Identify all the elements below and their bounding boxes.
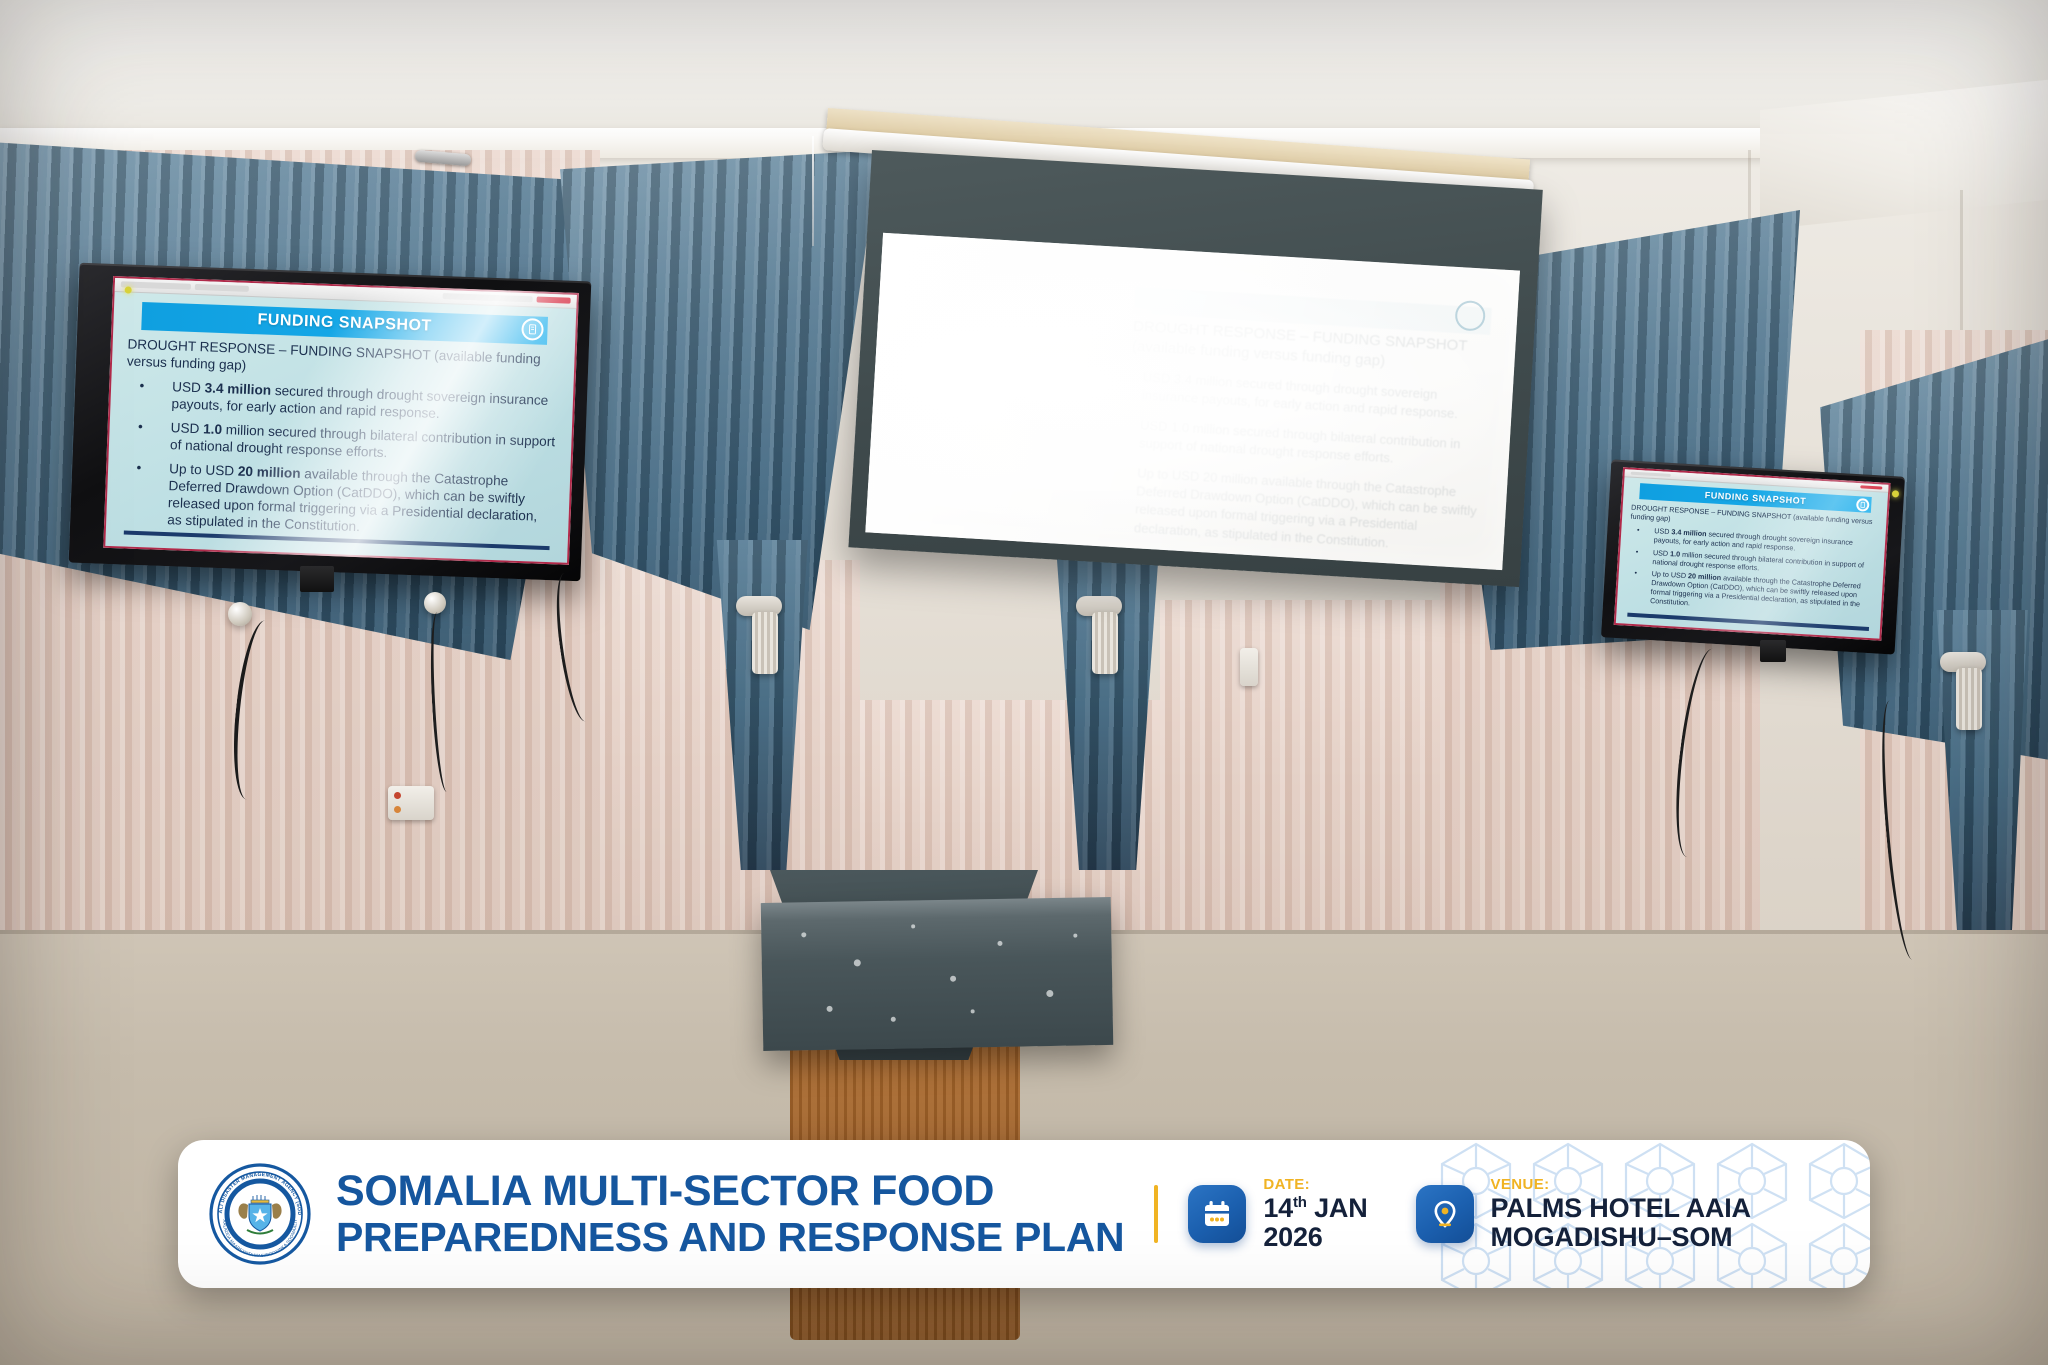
slide-funding-snapshot-right: FUNDING SNAPSHOT DROUGHT RESPONSE – FUND… — [1614, 467, 1891, 641]
slide-header-text: FUNDING SNAPSHOT — [1705, 490, 1807, 506]
slide-lead-text: DROUGHT RESPONSE – FUNDING SNAPSHOT (ava… — [127, 336, 560, 386]
date-year: 2026 — [1263, 1222, 1322, 1252]
projected-slide: DROUGHT RESPONSE – FUNDING SNAPSHOT (ava… — [865, 233, 1520, 570]
curtain-tassel — [1092, 612, 1118, 674]
wall-fixture — [228, 602, 252, 626]
power-strip[interactable] — [388, 786, 434, 820]
slide-body: DROUGHT RESPONSE – FUNDING SNAPSHOT (ava… — [121, 336, 560, 549]
right-tv-screen[interactable]: FUNDING SNAPSHOT DROUGHT RESPONSE – FUND… — [1614, 467, 1891, 641]
sodma-emblem-logo: SOMALI DISASTER MANAGEMENT AGENCY (SODMA… — [208, 1162, 312, 1266]
left-tv-screen[interactable]: FUNDING SNAPSHOT DROUGHT RESPONSE – FUND… — [103, 276, 579, 565]
projector-screen-frame: DROUGHT RESPONSE – FUNDING SNAPSHOT (ava… — [848, 150, 1542, 587]
slide-badge-icon — [1855, 498, 1869, 512]
venue-line1: PALMS HOTEL AAIA — [1491, 1193, 1751, 1223]
projected-slide-bullet-2: USD 1.0 million secured through bilatera… — [1138, 416, 1484, 473]
date-ordinal: th — [1293, 1194, 1307, 1211]
event-title-line1: SOMALIA MULTI-SECTOR FOOD — [336, 1170, 1124, 1213]
date-label: DATE: — [1263, 1176, 1367, 1193]
projected-slide-bullet-1: USD 3.4 million secured through drought … — [1141, 368, 1487, 425]
wall-fixture — [424, 592, 446, 614]
slide-body: DROUGHT RESPONSE – FUNDING SNAPSHOT (ava… — [1625, 503, 1878, 622]
event-title-line2: PREPAREDNESS AND RESPONSE PLAN — [336, 1217, 1124, 1258]
curtain-tassel — [752, 612, 778, 674]
venue-value: PALMS HOTEL AAIA MOGADISHU–SOM — [1491, 1194, 1751, 1252]
date-value: 14th JAN 2026 — [1263, 1194, 1367, 1252]
venue-line2: MOGADISHU–SOM — [1491, 1222, 1733, 1252]
date-day: 14 — [1263, 1193, 1293, 1223]
slide-funding-snapshot: FUNDING SNAPSHOT DROUGHT RESPONSE – FUND… — [103, 276, 579, 565]
banner-divider — [1154, 1185, 1158, 1243]
podium — [761, 897, 1114, 1051]
event-date-block: DATE: 14th JAN 2026 — [1188, 1176, 1367, 1252]
projector-cord — [812, 136, 814, 246]
date-month: JAN — [1314, 1193, 1367, 1223]
event-banner: SOMALI DISASTER MANAGEMENT AGENCY (SODMA… — [178, 1140, 1870, 1288]
wall-socket[interactable] — [1240, 648, 1258, 686]
event-venue-block: VENUE: PALMS HOTEL AAIA MOGADISHU–SOM — [1416, 1176, 1751, 1252]
slide-header-text: FUNDING SNAPSHOT — [257, 311, 432, 335]
curtain-tassel — [1956, 668, 1982, 730]
event-title: SOMALIA MULTI-SECTOR FOOD PREPAREDNESS A… — [336, 1170, 1124, 1258]
projected-slide-bullet-3: Up to USD 20 million available through t… — [1133, 464, 1481, 557]
location-pin-icon — [1416, 1185, 1474, 1243]
projector-screen: DROUGHT RESPONSE – FUNDING SNAPSHOT (ava… — [865, 233, 1520, 570]
screenshot-root: DROUGHT RESPONSE – FUNDING SNAPSHOT (ava… — [0, 0, 2048, 1365]
venue-label: VENUE: — [1491, 1176, 1751, 1193]
sheer-curtain — [1160, 600, 1460, 940]
right-display-tv[interactable]: FUNDING SNAPSHOT DROUGHT RESPONSE – FUND… — [1601, 459, 1905, 654]
left-display-tv[interactable]: FUNDING SNAPSHOT DROUGHT RESPONSE – FUND… — [69, 263, 592, 582]
right-tv-wall-mount — [1760, 640, 1786, 662]
calendar-icon — [1188, 1185, 1246, 1243]
slide-bullet-list: USD 3.4 million secured through drought … — [1625, 525, 1876, 619]
slide-bullet: Up to USD 20 million available through t… — [121, 459, 555, 543]
left-tv-wall-mount — [300, 566, 334, 592]
slide-bullet-list: USD 3.4 million secured through drought … — [121, 378, 558, 543]
